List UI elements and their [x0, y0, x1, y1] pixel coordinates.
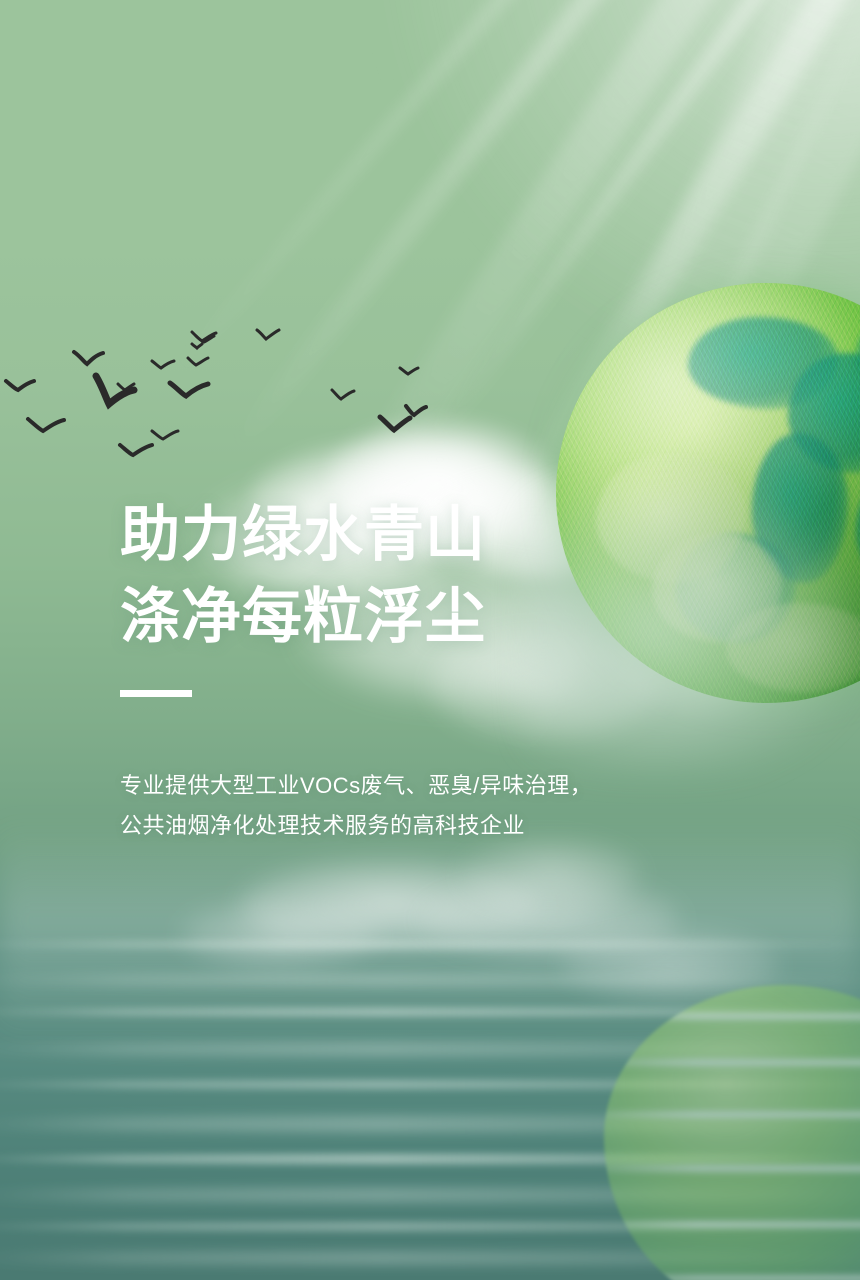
eco-banner: 助力绿水青山 涤净每粒浮尘 专业提供大型工业VOCs废气、恶臭/异味治理， 公共…	[0, 0, 860, 1280]
bird-icon	[168, 380, 210, 400]
bird-icon	[330, 388, 356, 402]
bird-icon	[150, 428, 180, 442]
bird-icon	[186, 356, 210, 368]
headline-line-2: 涤净每粒浮尘	[120, 576, 486, 658]
bird-icon	[92, 372, 138, 414]
bird-icon	[4, 378, 36, 394]
subtitle-line-2: 公共油烟净化处理技术服务的高科技企业	[120, 806, 592, 846]
bird-icon	[255, 328, 281, 342]
headline: 助力绿水青山 涤净每粒浮尘	[120, 494, 486, 658]
bird-icon	[118, 442, 154, 458]
bird-flock	[0, 330, 520, 470]
headline-line-1: 助力绿水青山	[120, 494, 486, 576]
bird-icon	[150, 358, 176, 370]
subtitle-line-1: 专业提供大型工业VOCs废气、恶臭/异味治理，	[120, 766, 592, 806]
bird-icon	[26, 416, 66, 434]
bird-icon	[116, 382, 136, 392]
bird-icon	[72, 350, 106, 368]
globe-mist-overlay	[526, 483, 856, 773]
divider-rule	[120, 690, 192, 697]
subtitle: 专业提供大型工业VOCs废气、恶臭/异味治理， 公共油烟净化处理技术服务的高科技…	[120, 766, 592, 846]
bird-icon	[190, 342, 204, 350]
bird-icon	[398, 366, 420, 376]
earth-globe	[556, 283, 860, 703]
bird-icon	[404, 404, 428, 418]
